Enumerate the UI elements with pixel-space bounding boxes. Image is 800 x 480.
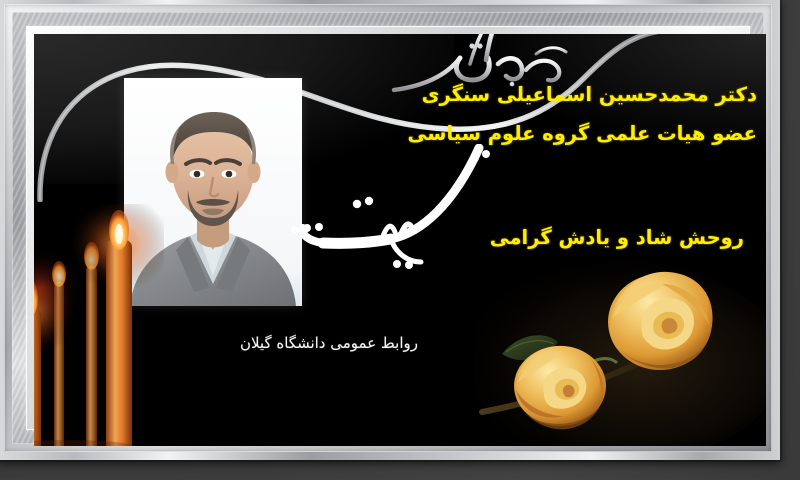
- organization-credit: روابط عمومی دانشگاه گیلان: [240, 334, 418, 352]
- poster-canvas: دکتر محمدحسین اسماعیلی سنگری عضو هیات عل…: [34, 34, 766, 446]
- lit-candles: [34, 204, 164, 446]
- memorial-poster: دکتر محمدحسین اسماعیلی سنگری عضو هیات عل…: [0, 0, 800, 480]
- yellow-roses: [474, 262, 766, 446]
- deceased-title: عضو هیات علمی گروه علوم سیاسی: [408, 122, 757, 145]
- taslit-calligraphy: [279, 144, 499, 269]
- blessing-text: روحش شاد و یادش گرامی: [490, 226, 744, 249]
- deceased-name: دکتر محمدحسین اسماعیلی سنگری: [422, 83, 757, 106]
